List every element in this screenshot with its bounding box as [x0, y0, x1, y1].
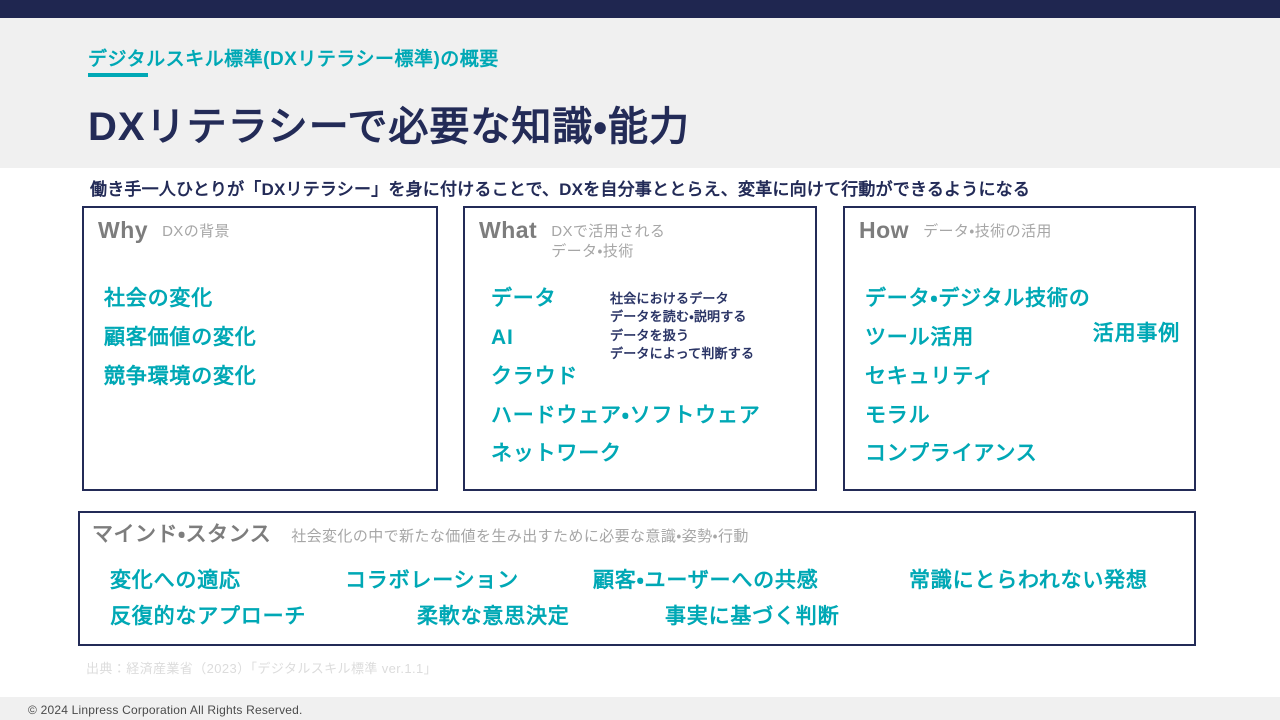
card-how-items: データ・デジタル技術の ツール活用 セキュリティ モラル コンプライアンス: [865, 280, 1091, 474]
card-what-head: What DXで活用される データ・技術: [479, 218, 665, 263]
card-what-item: ネットワーク: [491, 435, 761, 474]
footer-copyright: © 2024 Linpress Corporation All Rights R…: [28, 703, 303, 717]
card-how-item: セキュリティ: [865, 358, 1091, 397]
card-how-item: データ・デジタル技術の: [865, 280, 1091, 319]
card-why-items: 社会の変化 顧客価値の変化 競争環境の変化: [104, 280, 257, 397]
card-how-caption: データ・技術の活用: [923, 218, 1052, 242]
card-what-item: ハードウェア・ソフトウェア: [491, 397, 761, 436]
eyebrow-underline-accent: [88, 73, 148, 77]
card-mind-row: 反復的なアプローチ 柔軟な意思決定 事実に基づく判断: [110, 599, 1174, 635]
card-what-label: What: [479, 218, 537, 243]
card-what-caption-line: データ・技術: [551, 242, 665, 262]
card-mind-item: 柔軟な意思決定: [417, 599, 665, 635]
card-how-item: コンプライアンス: [865, 435, 1091, 474]
card-why: Why DXの背景 社会の変化 顧客価値の変化 競争環境の変化: [82, 206, 438, 491]
card-mind-label: マインド・スタンス: [92, 523, 271, 546]
card-mind-stance: マインド・スタンス 社会変化の中で新たな価値を生み出すために必要な意識・姿勢・行…: [78, 511, 1196, 646]
card-why-item: 競争環境の変化: [104, 358, 257, 397]
card-how-aside-item: 活用事例: [1093, 317, 1180, 347]
card-what-subnote: データを読む・説明する: [610, 308, 754, 326]
card-why-item: 顧客価値の変化: [104, 319, 257, 358]
card-what-subnote: 社会におけるデータ: [610, 290, 754, 308]
top-accent-bar: [0, 0, 1280, 18]
card-how: How データ・技術の活用 データ・デジタル技術の ツール活用 セキュリティ モ…: [843, 206, 1196, 491]
card-mind-item: 反復的なアプローチ: [110, 599, 417, 635]
card-mind-row: 変化への適応 コラボレーション 顧客・ユーザーへの共感 常識にとらわれない発想: [110, 563, 1174, 599]
source-note: 出典：経済産業省（2023）「デジタルスキル標準 ver.1.1」: [86, 658, 437, 677]
card-mind-head: マインド・スタンス 社会変化の中で新たな価値を生み出すために必要な意識・姿勢・行…: [92, 523, 749, 547]
eyebrow-label: デジタルスキル標準(DXリテラシー標準)の概要: [88, 44, 499, 71]
card-mind-items: 変化への適応 コラボレーション 顧客・ユーザーへの共感 常識にとらわれない発想 …: [110, 563, 1174, 635]
card-why-item: 社会の変化: [104, 280, 257, 319]
card-how-item: モラル: [865, 397, 1091, 436]
card-what-caption-line: DXで活用される: [551, 222, 665, 242]
card-what-caption: DXで活用される データ・技術: [551, 218, 665, 263]
card-mind-caption: 社会変化の中で新たな価値を生み出すために必要な意識・姿勢・行動: [291, 527, 749, 547]
page-title: DXリテラシーで必要な知識・能力: [88, 94, 690, 152]
card-how-caption-line: データ・技術の活用: [923, 222, 1052, 242]
card-how-head: How データ・技術の活用: [859, 218, 1052, 243]
slide-root: デジタルスキル標準(DXリテラシー標準)の概要 DXリテラシーで必要な知識・能力…: [0, 0, 1280, 720]
card-why-head: Why DXの背景: [98, 218, 230, 243]
card-how-item: ツール活用: [865, 319, 1091, 358]
card-mind-item: 変化への適応: [110, 563, 345, 599]
card-mind-item: コラボレーション: [345, 563, 593, 599]
card-mind-item: 顧客・ユーザーへの共感: [593, 563, 909, 599]
card-why-caption-line: DXの背景: [162, 222, 230, 242]
card-mind-item: 常識にとらわれない発想: [909, 563, 1148, 599]
card-why-label: Why: [98, 218, 148, 243]
card-how-label: How: [859, 218, 909, 243]
card-what-subnotes: 社会におけるデータ データを読む・説明する データを扱う データによって判断する: [610, 290, 754, 364]
card-what-subnote: データによって判断する: [610, 345, 754, 363]
lead-statement: 働き手一人ひとりが「DXリテラシー」を身に付けることで、DXを自分事ととらえ、変…: [90, 175, 1030, 200]
card-what: What DXで活用される データ・技術 データ AI クラウド ハードウェア・…: [463, 206, 817, 491]
card-mind-item: 事実に基づく判断: [665, 599, 839, 635]
card-what-subnote: データを扱う: [610, 327, 754, 345]
card-why-caption: DXの背景: [162, 218, 230, 242]
card-mind-caption-line: 社会変化の中で新たな価値を生み出すために必要な意識・姿勢・行動: [291, 527, 749, 547]
